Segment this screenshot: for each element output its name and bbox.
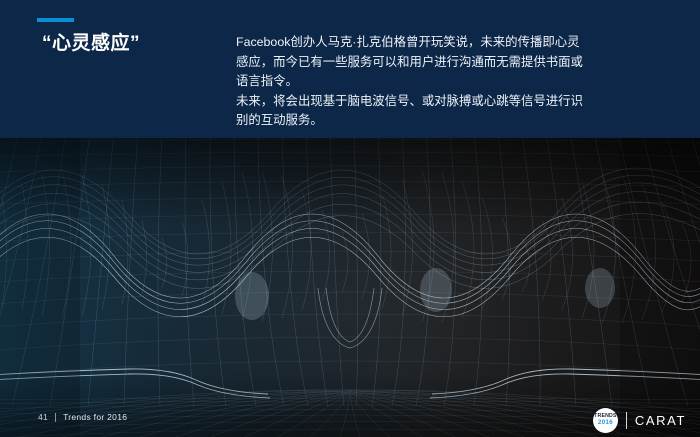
body-line: 未来，将会出现基于脑电波信号、或对脉搏或心跳等信号进行识 [236,92,674,112]
trends-badge-icon: TRENDS 2016 [593,408,618,433]
body-paragraph: Facebook创办人马克·扎克伯格曾开玩笑说，未来的传播即心灵 感应，而今已有… [236,33,674,131]
mesh-svg [0,138,700,437]
body-line: 感应，而今已有一些服务可以和用户进行沟通而无需提供书面或 [236,53,674,73]
page-title: “心灵感应” [42,28,222,55]
body-line: 语言指令。 [236,72,674,92]
brand-name: CARAT [635,413,686,428]
wireframe-wave-artwork [0,138,700,437]
body-line: Facebook创办人马克·扎克伯格曾开玩笑说，未来的传播即心灵 [236,33,674,53]
accent-bar [37,18,74,22]
footer-left-group: 41 Trends for 2016 [38,412,127,422]
brand-divider [626,412,627,429]
body-line: 别的互动服务。 [236,111,674,131]
page-number: 41 [38,412,48,422]
footer-divider [55,413,56,422]
badge-year-label: 2016 [598,420,613,426]
brand-lockup: TRENDS 2016 CARAT [593,408,686,433]
slide: “心灵感应” Facebook创办人马克·扎克伯格曾开玩笑说，未来的传播即心灵 … [0,0,700,437]
footer-label: Trends for 2016 [63,412,127,422]
